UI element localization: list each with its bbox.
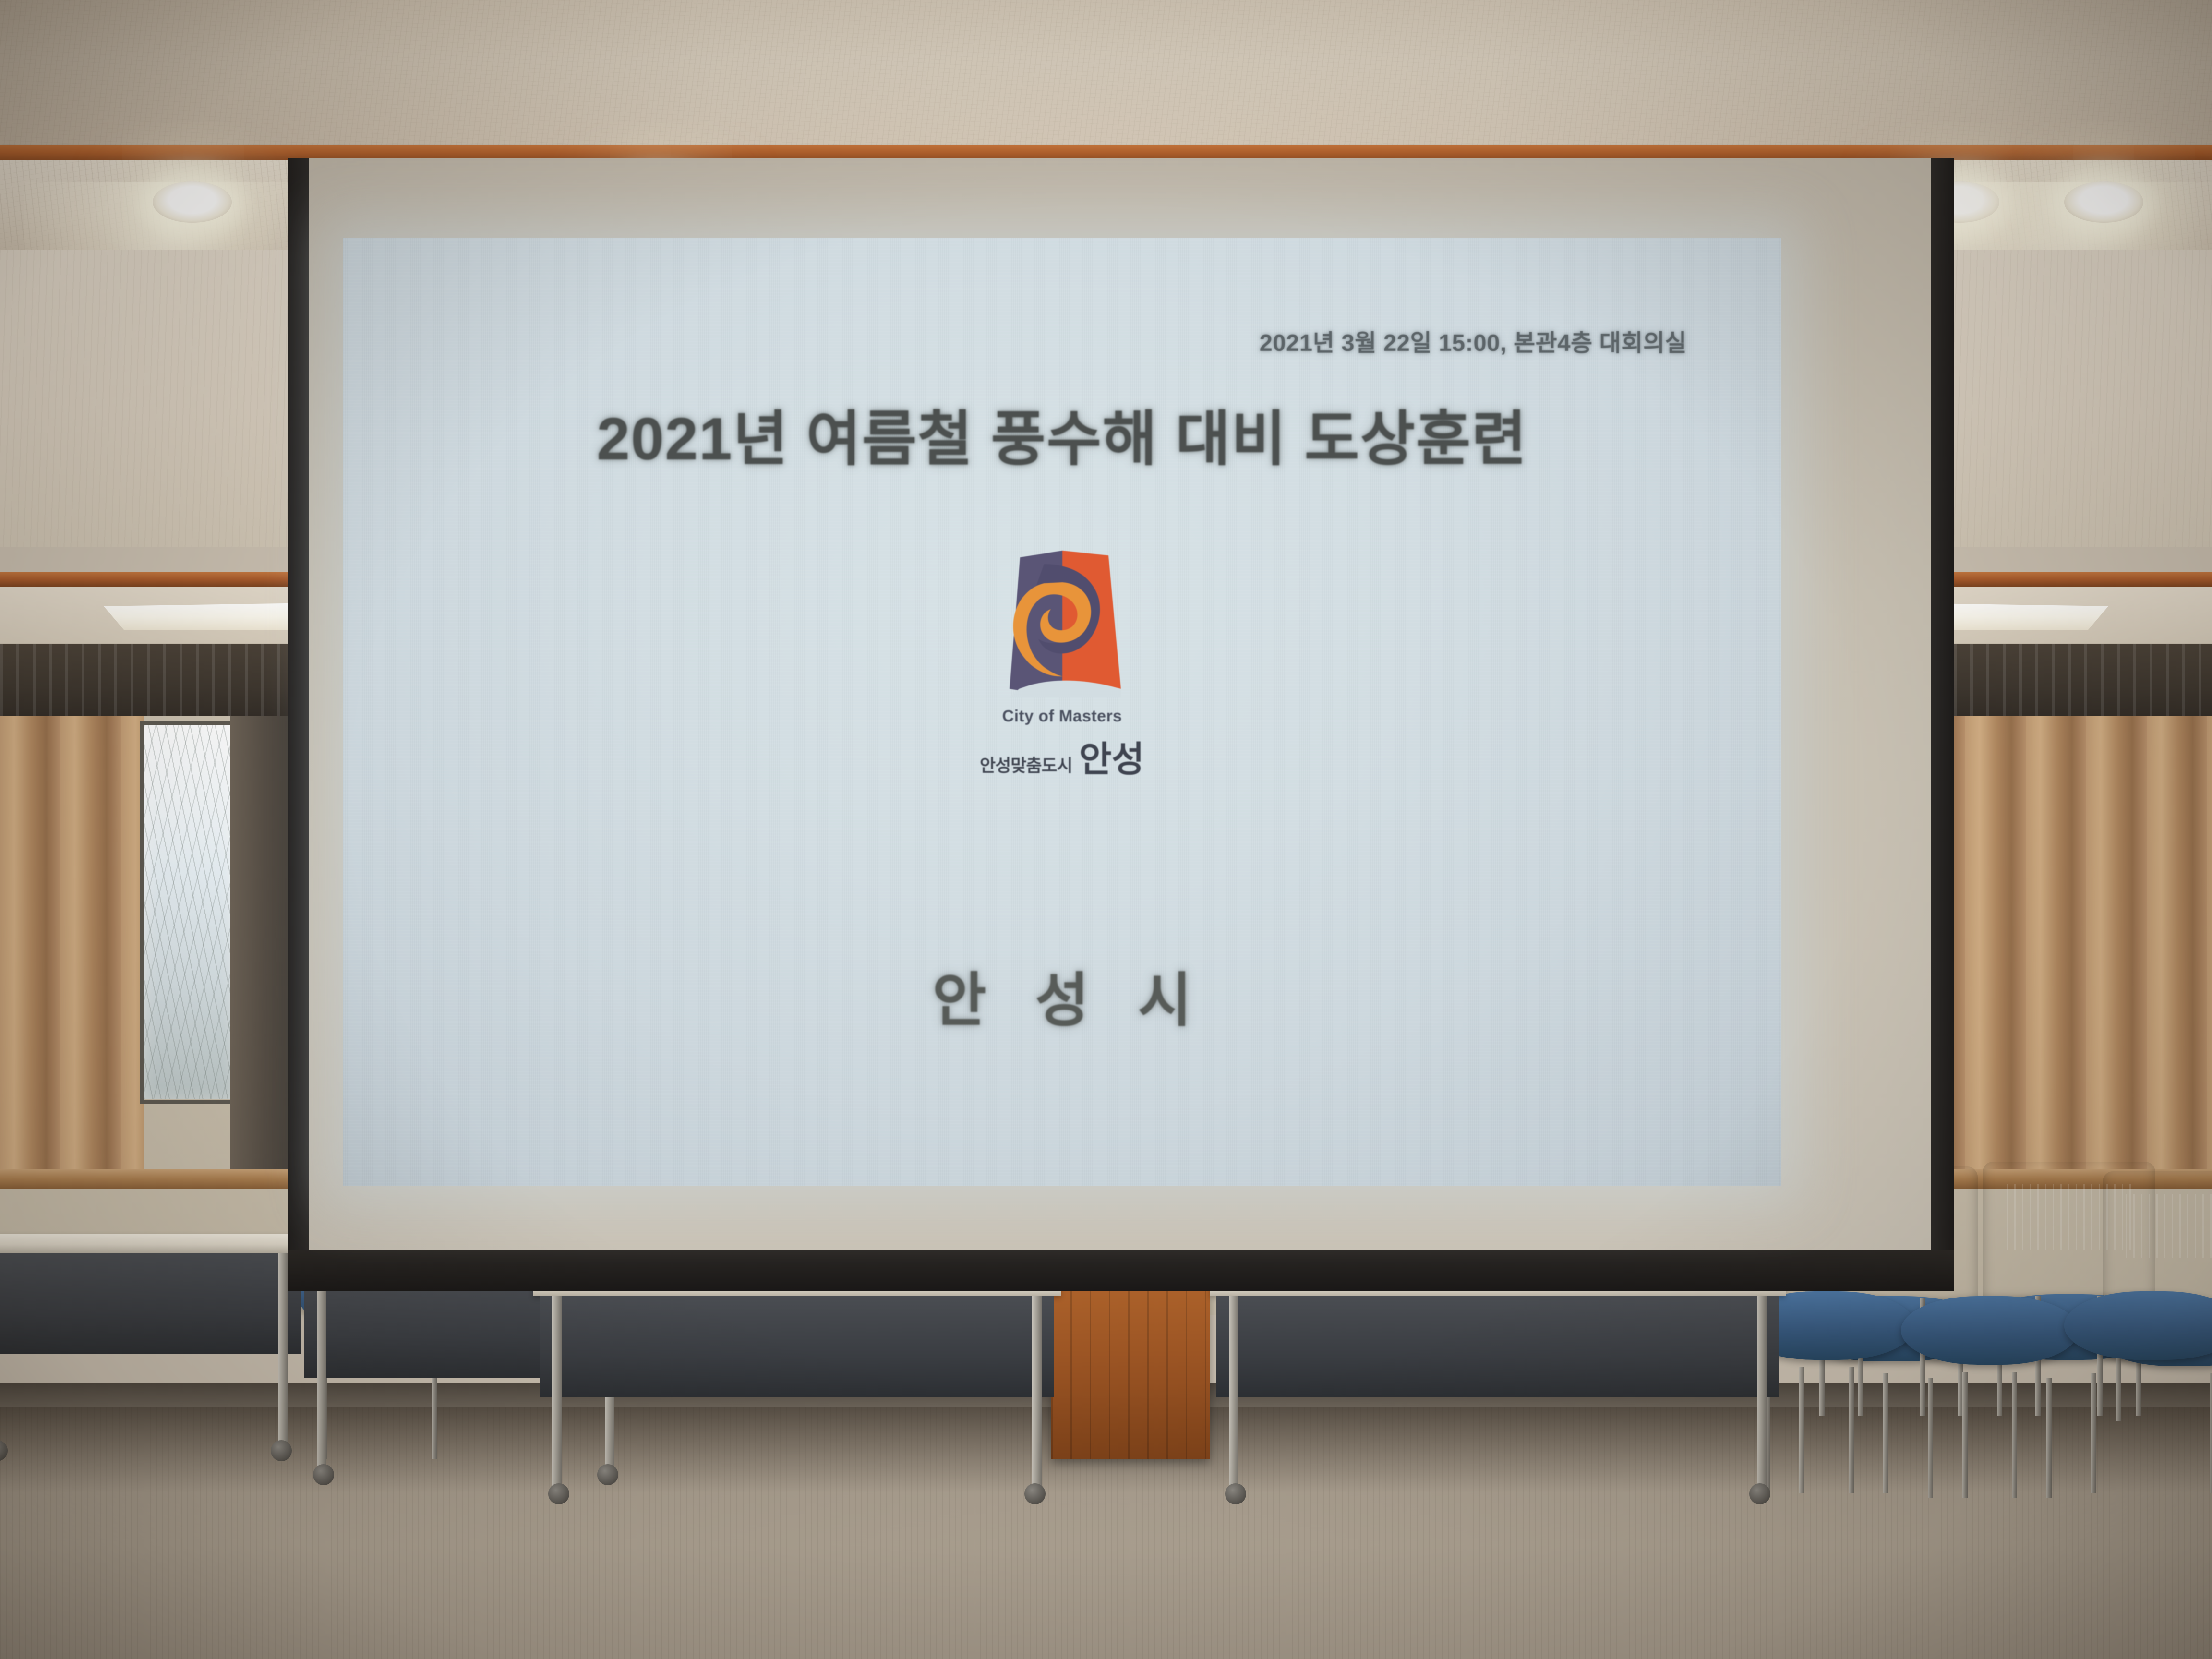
ceiling-shadow-right — [1492, 0, 2212, 149]
table-3 — [533, 1277, 1061, 1527]
left-curtain-panel — [0, 716, 144, 1182]
downlight-icon-1 — [153, 181, 232, 223]
chair-front-r3 — [2074, 1291, 2212, 1493]
ceiling — [0, 0, 2212, 149]
chair-seat — [1901, 1296, 2079, 1365]
table-caster — [1024, 1483, 1046, 1504]
screen-border-left — [288, 158, 309, 1291]
left-curtain-assembly — [0, 644, 288, 1182]
chair-leg — [2091, 1373, 2096, 1493]
conference-room-scene: 2021년 3월 22일 15:00, 본관4층 대회의실 2021년 여름철 … — [0, 0, 2212, 1659]
logo-tagline-ko-big: 안성 — [1079, 731, 1144, 782]
chair-leg — [1883, 1373, 1888, 1493]
table-leg — [1229, 1296, 1238, 1488]
window-frame — [140, 721, 239, 1104]
slide-date-line: 2021년 3월 22일 15:00, 본관4층 대회의실 — [1260, 324, 1687, 358]
screen-border-right — [1931, 158, 1954, 1291]
left-dark-curtain-panel — [230, 716, 288, 1182]
table-leg — [1757, 1296, 1767, 1488]
table-leg — [278, 1253, 288, 1445]
chair-leg — [1849, 1367, 1854, 1493]
table-left-front — [0, 1234, 307, 1483]
table-modesty-panel — [0, 1253, 301, 1354]
table-4 — [1210, 1277, 1786, 1527]
chair-back — [2103, 1171, 2212, 1311]
table-caster — [1225, 1483, 1246, 1504]
left-valance — [0, 644, 288, 716]
logo-tagline-ko: 안성맞춤도시 안성 — [959, 731, 1166, 782]
downlight-icon-4 — [2064, 181, 2143, 223]
screen-border-bottom — [288, 1250, 1954, 1291]
slide-content: 2021년 3월 22일 15:00, 본관4층 대회의실 2021년 여름철 … — [343, 238, 1781, 1186]
chair-front-r2 — [1911, 1296, 2069, 1498]
logo-mark-icon — [990, 545, 1134, 703]
chair-leg — [1928, 1378, 1933, 1498]
table-modesty-panel — [540, 1296, 1054, 1397]
logo-tagline-en: City of Masters — [959, 707, 1166, 726]
projected-slide: 2021년 3월 22일 15:00, 본관4층 대회의실 2021년 여름철 … — [343, 238, 1781, 1186]
slide-title: 2021년 여름철 풍수해 대비 도상훈련 — [343, 390, 1781, 477]
left-wall-rail — [0, 1169, 288, 1189]
podium — [1051, 1267, 1210, 1459]
projection-screen: 2021년 3월 22일 15:00, 본관4층 대회의실 2021년 여름철 … — [288, 158, 1954, 1291]
table-caster — [271, 1440, 292, 1461]
chair-leg — [2210, 1373, 2212, 1493]
chair-leg — [1799, 1367, 1804, 1493]
table-top — [0, 1234, 307, 1253]
slide-organization: 안 성 시 — [343, 953, 1781, 1038]
table-leg — [552, 1296, 562, 1488]
table-caster — [0, 1440, 8, 1461]
chair-seat — [2064, 1291, 2212, 1360]
table-leg — [317, 1277, 326, 1469]
table-leg — [1032, 1296, 1042, 1488]
table-caster — [548, 1483, 569, 1504]
table-caster — [1749, 1483, 1770, 1504]
chair-leg — [1962, 1372, 1968, 1498]
table-modesty-panel — [1216, 1296, 1779, 1397]
ceiling-shadow-left — [0, 0, 720, 149]
chair-leg — [2046, 1378, 2052, 1498]
table-caster — [313, 1464, 334, 1485]
anseong-city-logo: City of Masters 안성맞춤도시 안성 — [959, 545, 1166, 782]
chair-leg — [2012, 1372, 2017, 1498]
logo-tagline-ko-small: 안성맞춤도시 — [980, 752, 1072, 777]
